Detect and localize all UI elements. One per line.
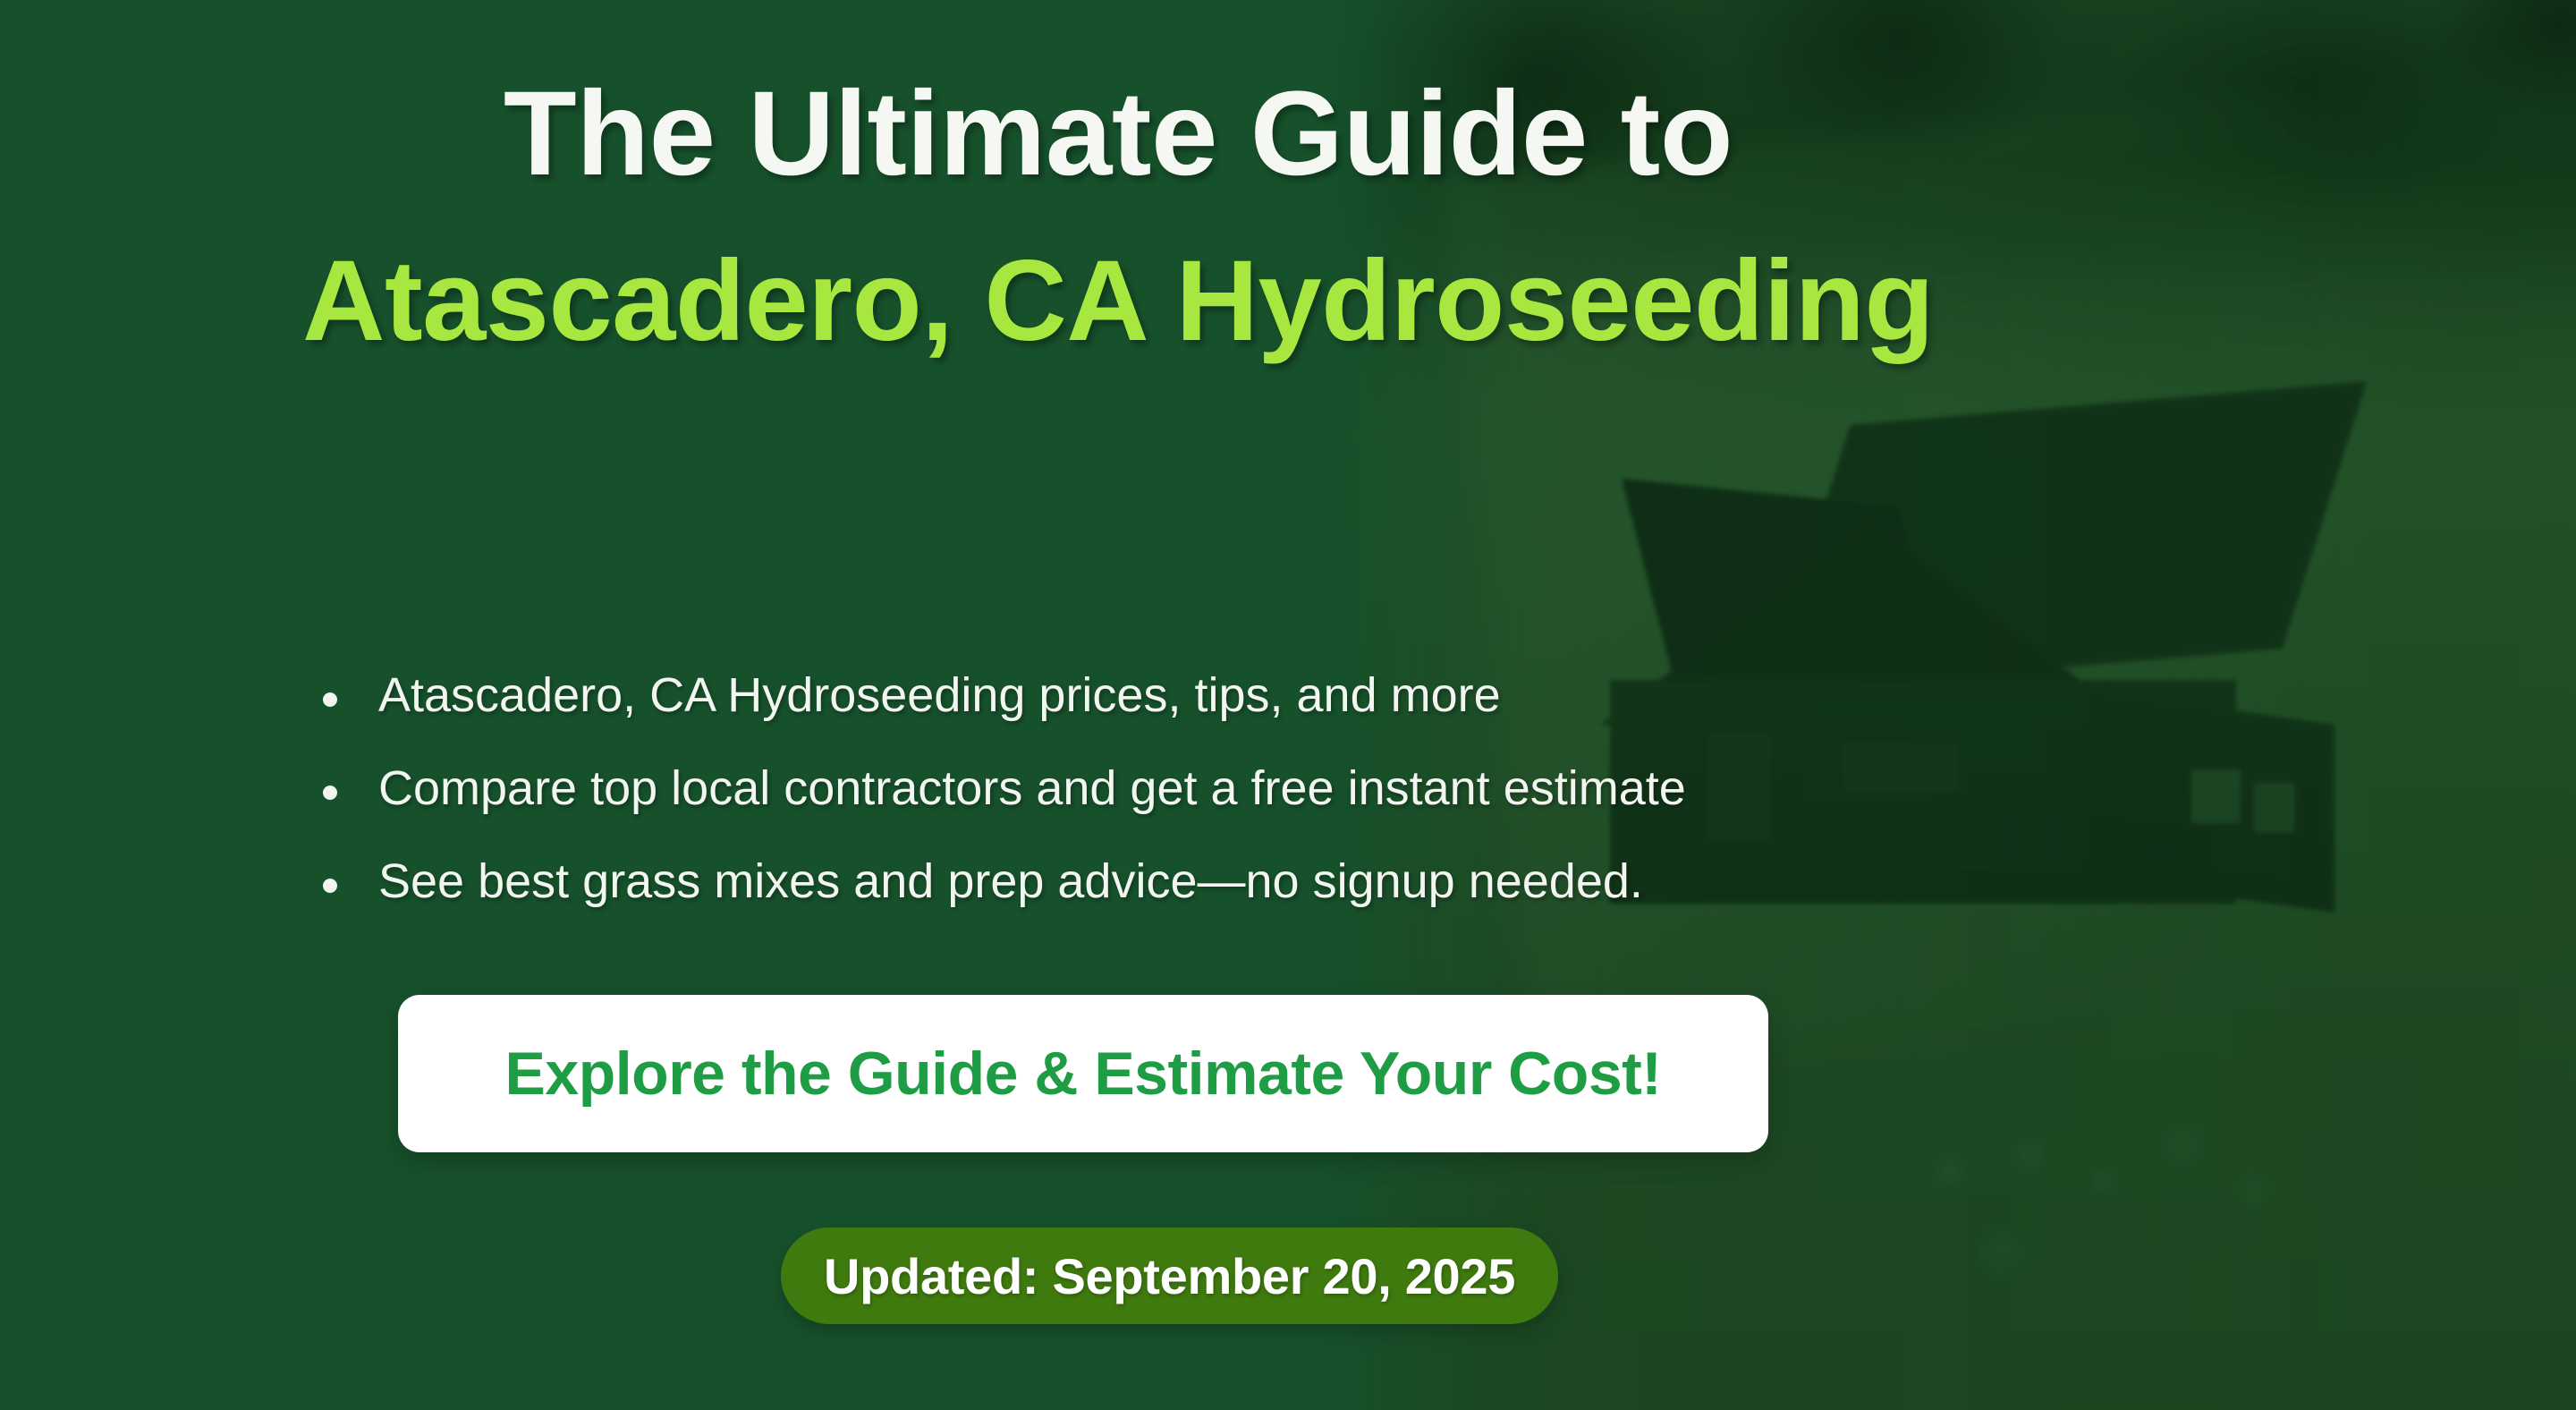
- page-title-line-2: Atascadero, CA Hydroseeding: [0, 243, 2236, 361]
- feature-bullet-list: Atascadero, CA Hydroseeding prices, tips…: [318, 671, 1686, 950]
- list-item: Compare top local contractors and get a …: [318, 764, 1686, 812]
- updated-date-badge: Updated: September 20, 2025: [781, 1227, 1558, 1324]
- banner-content: The Ultimate Guide to Atascadero, CA Hyd…: [0, 0, 2576, 1410]
- list-item: Atascadero, CA Hydroseeding prices, tips…: [318, 671, 1686, 719]
- page-title-line-1: The Ultimate Guide to: [0, 73, 2236, 196]
- list-item: See best grass mixes and prep advice—no …: [318, 857, 1686, 905]
- explore-guide-cta-button[interactable]: Explore the Guide & Estimate Your Cost!: [398, 995, 1768, 1152]
- hero-banner: The Ultimate Guide to Atascadero, CA Hyd…: [0, 0, 2576, 1410]
